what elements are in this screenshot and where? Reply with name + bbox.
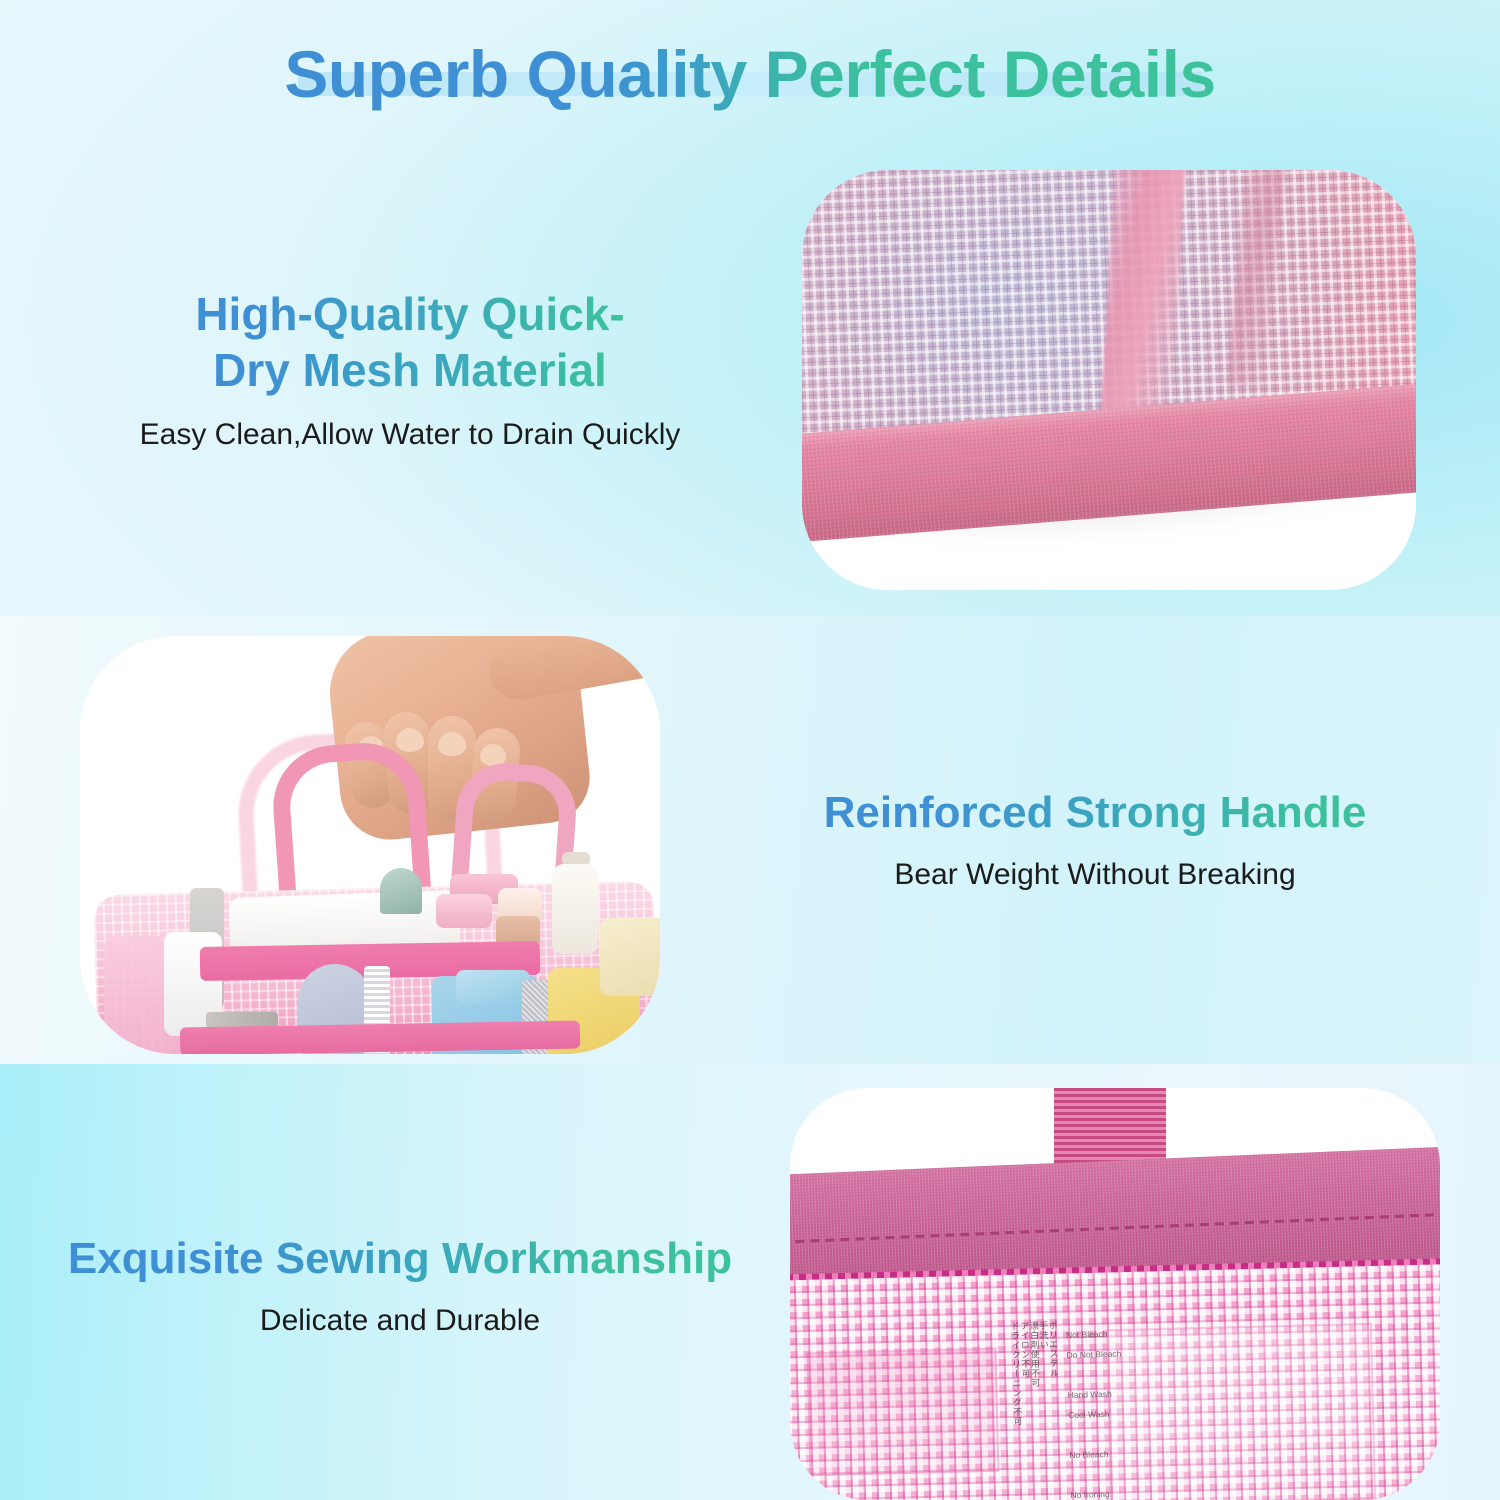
blue-towel-roll-top: [456, 970, 530, 1004]
mesh-material-photo: [802, 170, 1416, 590]
product-infographic: Superb Quality Perfect Details High-Qual…: [0, 0, 1500, 1500]
pink-jar: [436, 894, 492, 928]
mesh-pocket-left: [807, 1348, 1000, 1477]
caddy-lower-band: [180, 1021, 580, 1054]
fingernail: [438, 732, 466, 756]
fingernail: [396, 728, 424, 752]
strong-handle-text-block: Reinforced Strong Handle Bear Weight Wit…: [700, 786, 1490, 893]
care-label-cjk-text: ポリエステル 手洗い 漂白剤使用不可 アイロン不可 ドライクリーニング不可: [1009, 1320, 1061, 1500]
strong-handle-photo: [80, 636, 660, 1054]
sewing-workmanship-photo: ポリエステル 手洗い 漂白剤使用不可 アイロン不可 ドライクリーニング不可 No…: [790, 1088, 1440, 1500]
pump-bottle: [552, 864, 598, 954]
care-label-en-text: Not Bleach Do Not Bleach Hand Wash Cool …: [1066, 1319, 1126, 1500]
strong-handle-headline: Reinforced Strong Handle: [700, 786, 1490, 840]
sewing-workmanship-headline: Exquisite Sewing Workmanship: [10, 1232, 790, 1286]
sewing-workmanship-text-block: Exquisite Sewing Workmanship Delicate an…: [10, 1232, 790, 1339]
green-comb: [380, 868, 422, 914]
mesh-material-subline: Easy Clean,Allow Water to Drain Quickly: [50, 416, 770, 454]
mesh-material-headline: High-Quality Quick- Dry Mesh Material: [50, 286, 770, 398]
page-title: Superb Quality Perfect Details: [0, 36, 1500, 112]
mesh-pocket-right: [1106, 1323, 1376, 1500]
mesh-material-text-block: High-Quality Quick- Dry Mesh Material Ea…: [50, 286, 770, 454]
strong-handle-subline: Bear Weight Without Breaking: [700, 856, 1490, 894]
care-label: ポリエステル 手洗い 漂白剤使用不可 アイロン不可 ドライクリーニング不可 No…: [1009, 1318, 1130, 1500]
page-title-text: Superb Quality Perfect Details: [284, 37, 1215, 111]
sewing-workmanship-subline: Delicate and Durable: [10, 1302, 790, 1340]
cream-towel: [600, 918, 660, 996]
photo-background: ポリエステル 手洗い 漂白剤使用不可 アイロン不可 ドライクリーニング不可 No…: [790, 1088, 1440, 1500]
photo-background: [80, 636, 660, 1054]
